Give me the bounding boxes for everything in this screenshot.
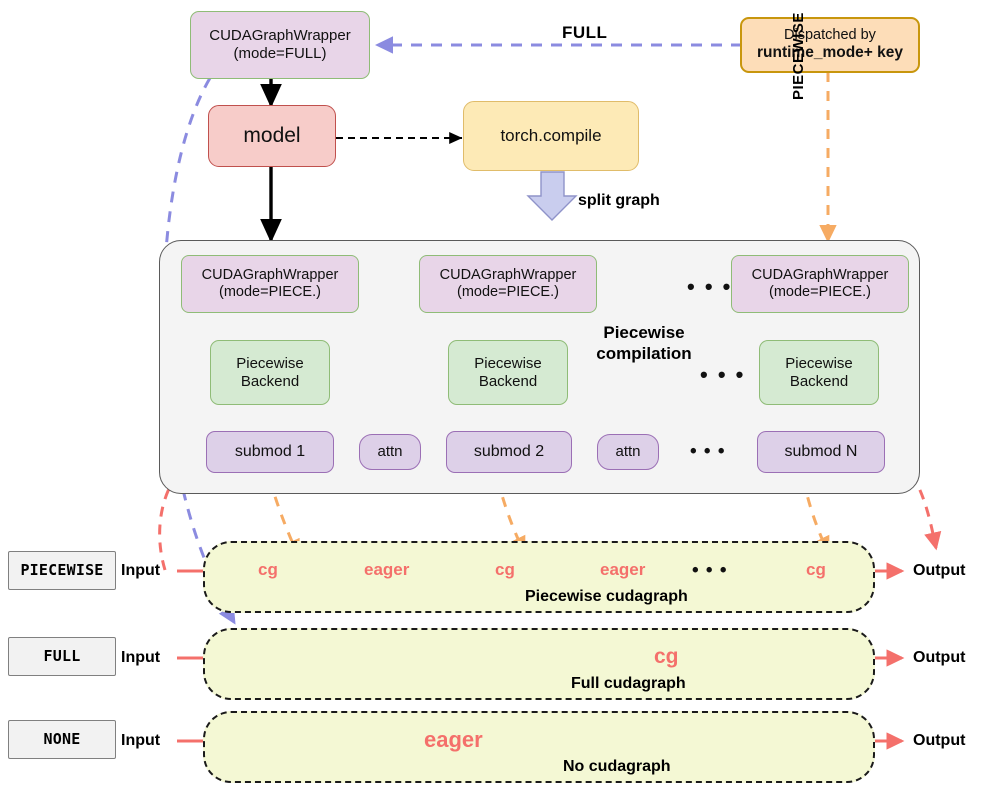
wrapper-2-line1: CUDAGraphWrapper: [440, 267, 577, 284]
full-edge-label: FULL: [562, 23, 607, 43]
lane-full-caption: Full cudagraph: [571, 675, 686, 693]
lane-none-caption: No cudagraph: [563, 758, 671, 776]
submod-box-3[interactable]: submod N: [757, 431, 885, 473]
lane-piecewise-step-3: cg: [495, 560, 515, 580]
cudagraph-wrapper-full-line1: CUDAGraphWrapper: [209, 27, 350, 45]
mode-badge-none[interactable]: NONE: [8, 720, 116, 759]
lane-none: [203, 711, 875, 783]
wrapper-1-line2: (mode=PIECE.): [219, 284, 321, 301]
attn-2-label: attn: [615, 443, 640, 461]
submod-box-2[interactable]: submod 2: [446, 431, 572, 473]
dispatch-line2: runtime_mode+ key: [757, 44, 903, 62]
piecewise-edge-label: PIECEWISE: [790, 12, 807, 100]
submod-box-1[interactable]: submod 1: [206, 431, 334, 473]
torch-compile-box[interactable]: torch.compile: [463, 101, 639, 171]
lane-none-step-1: eager: [424, 727, 483, 753]
mode-badge-piecewise[interactable]: PIECEWISE: [8, 551, 116, 590]
backend-2-line2: Backend: [479, 373, 537, 391]
wrapper-2-line2: (mode=PIECE.): [457, 284, 559, 301]
torch-compile-label: torch.compile: [500, 126, 601, 146]
piecewise-backend-box-2[interactable]: Piecewise Backend: [448, 340, 568, 405]
lane-piecewise-ellipsis: • • •: [692, 560, 728, 582]
lane-piecewise-step-6: cg: [806, 560, 826, 580]
lane-piecewise-output: Output: [913, 562, 965, 580]
backend-1-line1: Piecewise: [236, 355, 304, 373]
wrapper-3-line1: CUDAGraphWrapper: [752, 267, 889, 284]
backend-2-line1: Piecewise: [474, 355, 542, 373]
backend-1-line2: Backend: [241, 373, 299, 391]
split-graph-arrow: [528, 172, 576, 220]
backend-3-line1: Piecewise: [785, 355, 853, 373]
submod-3-label: submod N: [785, 443, 858, 462]
lane-piecewise-step-1: cg: [258, 560, 278, 580]
cudagraph-wrapper-full-box[interactable]: CUDAGraphWrapper (mode=FULL): [190, 11, 370, 79]
lane-full: [203, 628, 875, 700]
piecewise-backend-box-3[interactable]: Piecewise Backend: [759, 340, 879, 405]
lane-none-input: Input: [121, 732, 160, 750]
cudagraph-wrapper-piece-box-2[interactable]: CUDAGraphWrapper (mode=PIECE.): [419, 255, 597, 313]
submod-2-label: submod 2: [474, 443, 544, 462]
mode-none-label: NONE: [44, 731, 81, 749]
model-label: model: [243, 124, 300, 149]
lane-piecewise-input: Input: [121, 562, 160, 580]
pc-title-line2: compilation: [596, 344, 691, 363]
wrapper-1-line1: CUDAGraphWrapper: [202, 267, 339, 284]
mode-badge-full[interactable]: FULL: [8, 637, 116, 676]
piecewise-compilation-title: Piecewise compilation: [570, 322, 718, 365]
diagram-canvas: CUDAGraphWrapper (mode=FULL) model torch…: [0, 0, 985, 800]
lane-piecewise-step-2: eager: [364, 560, 409, 580]
lane-piecewise-step-4: eager: [600, 560, 645, 580]
submod-1-label: submod 1: [235, 443, 305, 462]
mode-full-label: FULL: [44, 648, 81, 666]
lane-full-output: Output: [913, 649, 965, 667]
cudagraph-wrapper-piece-box-3[interactable]: CUDAGraphWrapper (mode=PIECE.): [731, 255, 909, 313]
attn-box-1[interactable]: attn: [359, 434, 421, 470]
cudagraph-wrapper-full-line2: (mode=FULL): [234, 45, 327, 63]
piecewise-backend-box-1[interactable]: Piecewise Backend: [210, 340, 330, 405]
model-box[interactable]: model: [208, 105, 336, 167]
lane-full-step-1: cg: [654, 645, 679, 669]
attn-box-2[interactable]: attn: [597, 434, 659, 470]
mode-piecewise-label: PIECEWISE: [20, 562, 103, 580]
split-graph-label: split graph: [578, 192, 660, 210]
group-ellipsis-wrappers: • • •: [687, 274, 732, 300]
lane-full-input: Input: [121, 649, 160, 667]
backend-3-line2: Backend: [790, 373, 848, 391]
group-ellipsis-submods: • • •: [690, 441, 726, 463]
attn-1-label: attn: [377, 443, 402, 461]
lane-none-output: Output: [913, 732, 965, 750]
lane-piecewise-caption: Piecewise cudagraph: [525, 588, 688, 606]
dispatch-box[interactable]: Dispatched by runtime_mode+ key: [740, 17, 920, 73]
pc-title-line1: Piecewise: [603, 323, 684, 342]
group-ellipsis-backends: • • •: [700, 362, 745, 388]
cudagraph-wrapper-piece-box-1[interactable]: CUDAGraphWrapper (mode=PIECE.): [181, 255, 359, 313]
wrapper-3-line2: (mode=PIECE.): [769, 284, 871, 301]
